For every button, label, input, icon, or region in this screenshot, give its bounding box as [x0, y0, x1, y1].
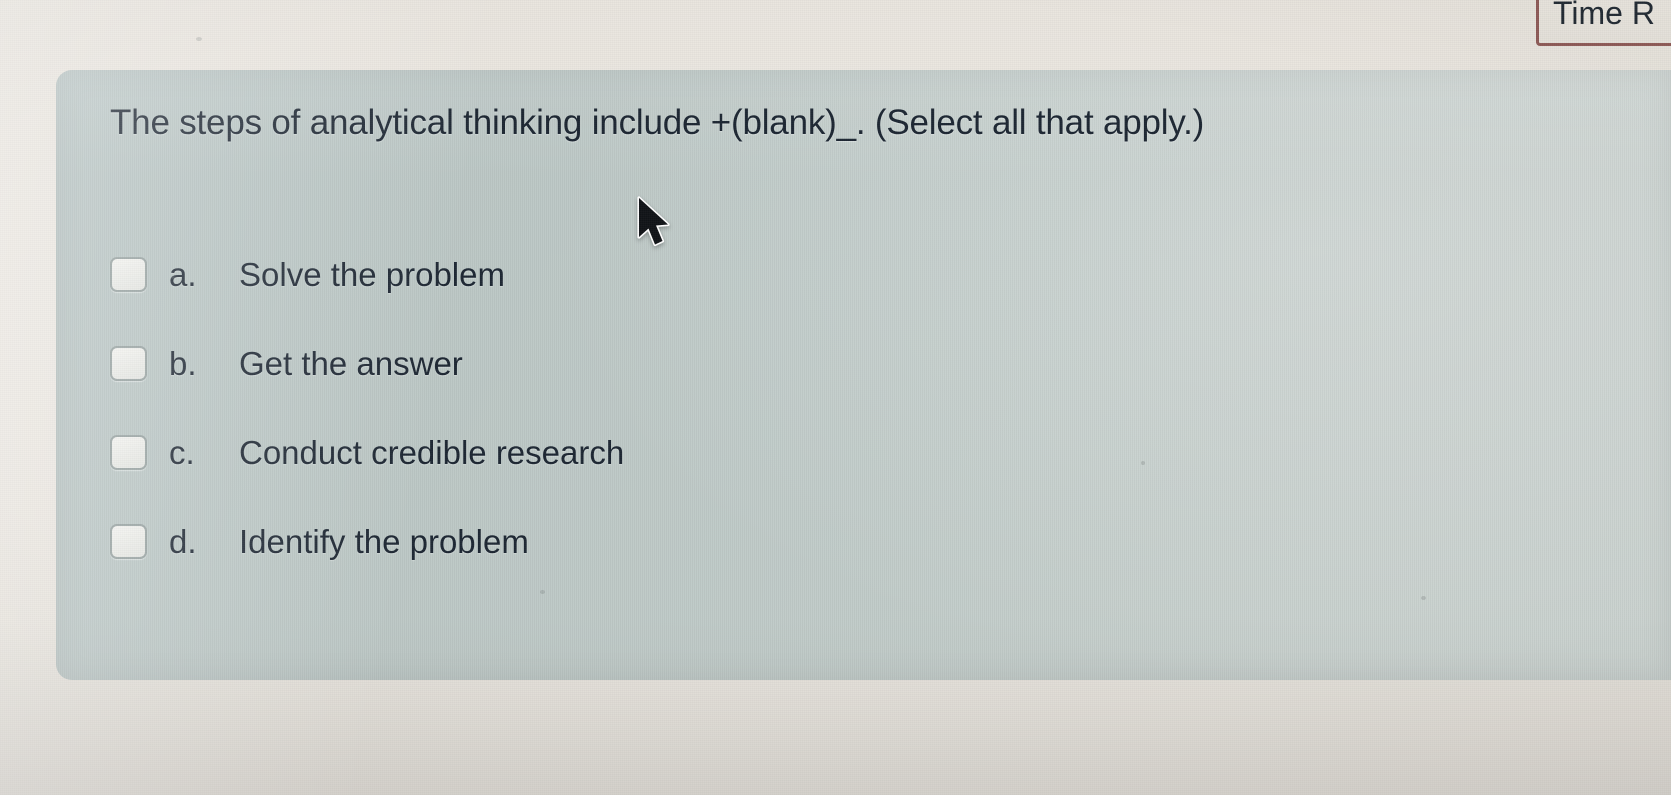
- screenshot-photo: Time R The steps of analytical thinking …: [0, 0, 1671, 795]
- option-row-a[interactable]: a. Solve the problem: [110, 230, 1210, 319]
- checkbox-b[interactable]: [110, 346, 147, 381]
- option-text-d[interactable]: Identify the problem: [239, 523, 529, 561]
- option-row-b[interactable]: b. Get the answer: [110, 319, 1210, 408]
- question-card: The steps of analytical thinking include…: [56, 70, 1671, 680]
- question-prompt: The steps of analytical thinking include…: [110, 102, 1204, 144]
- option-letter-d: d.: [169, 523, 221, 561]
- option-text-b[interactable]: Get the answer: [239, 345, 463, 383]
- option-row-d[interactable]: d. Identify the problem: [110, 497, 1210, 586]
- checkbox-c[interactable]: [110, 435, 147, 470]
- answer-options-list: a. Solve the problem b. Get the answer c…: [110, 230, 1210, 586]
- time-remaining-box: Time R: [1536, 0, 1671, 46]
- option-row-c[interactable]: c. Conduct credible research: [110, 408, 1210, 497]
- checkbox-d[interactable]: [110, 524, 147, 559]
- option-letter-c: c.: [169, 434, 221, 472]
- option-letter-a: a.: [169, 256, 221, 294]
- time-remaining-label: Time R: [1553, 0, 1655, 32]
- checkbox-a[interactable]: [110, 257, 147, 292]
- option-text-a[interactable]: Solve the problem: [239, 256, 505, 294]
- option-text-c[interactable]: Conduct credible research: [239, 434, 624, 472]
- option-letter-b: b.: [169, 345, 221, 383]
